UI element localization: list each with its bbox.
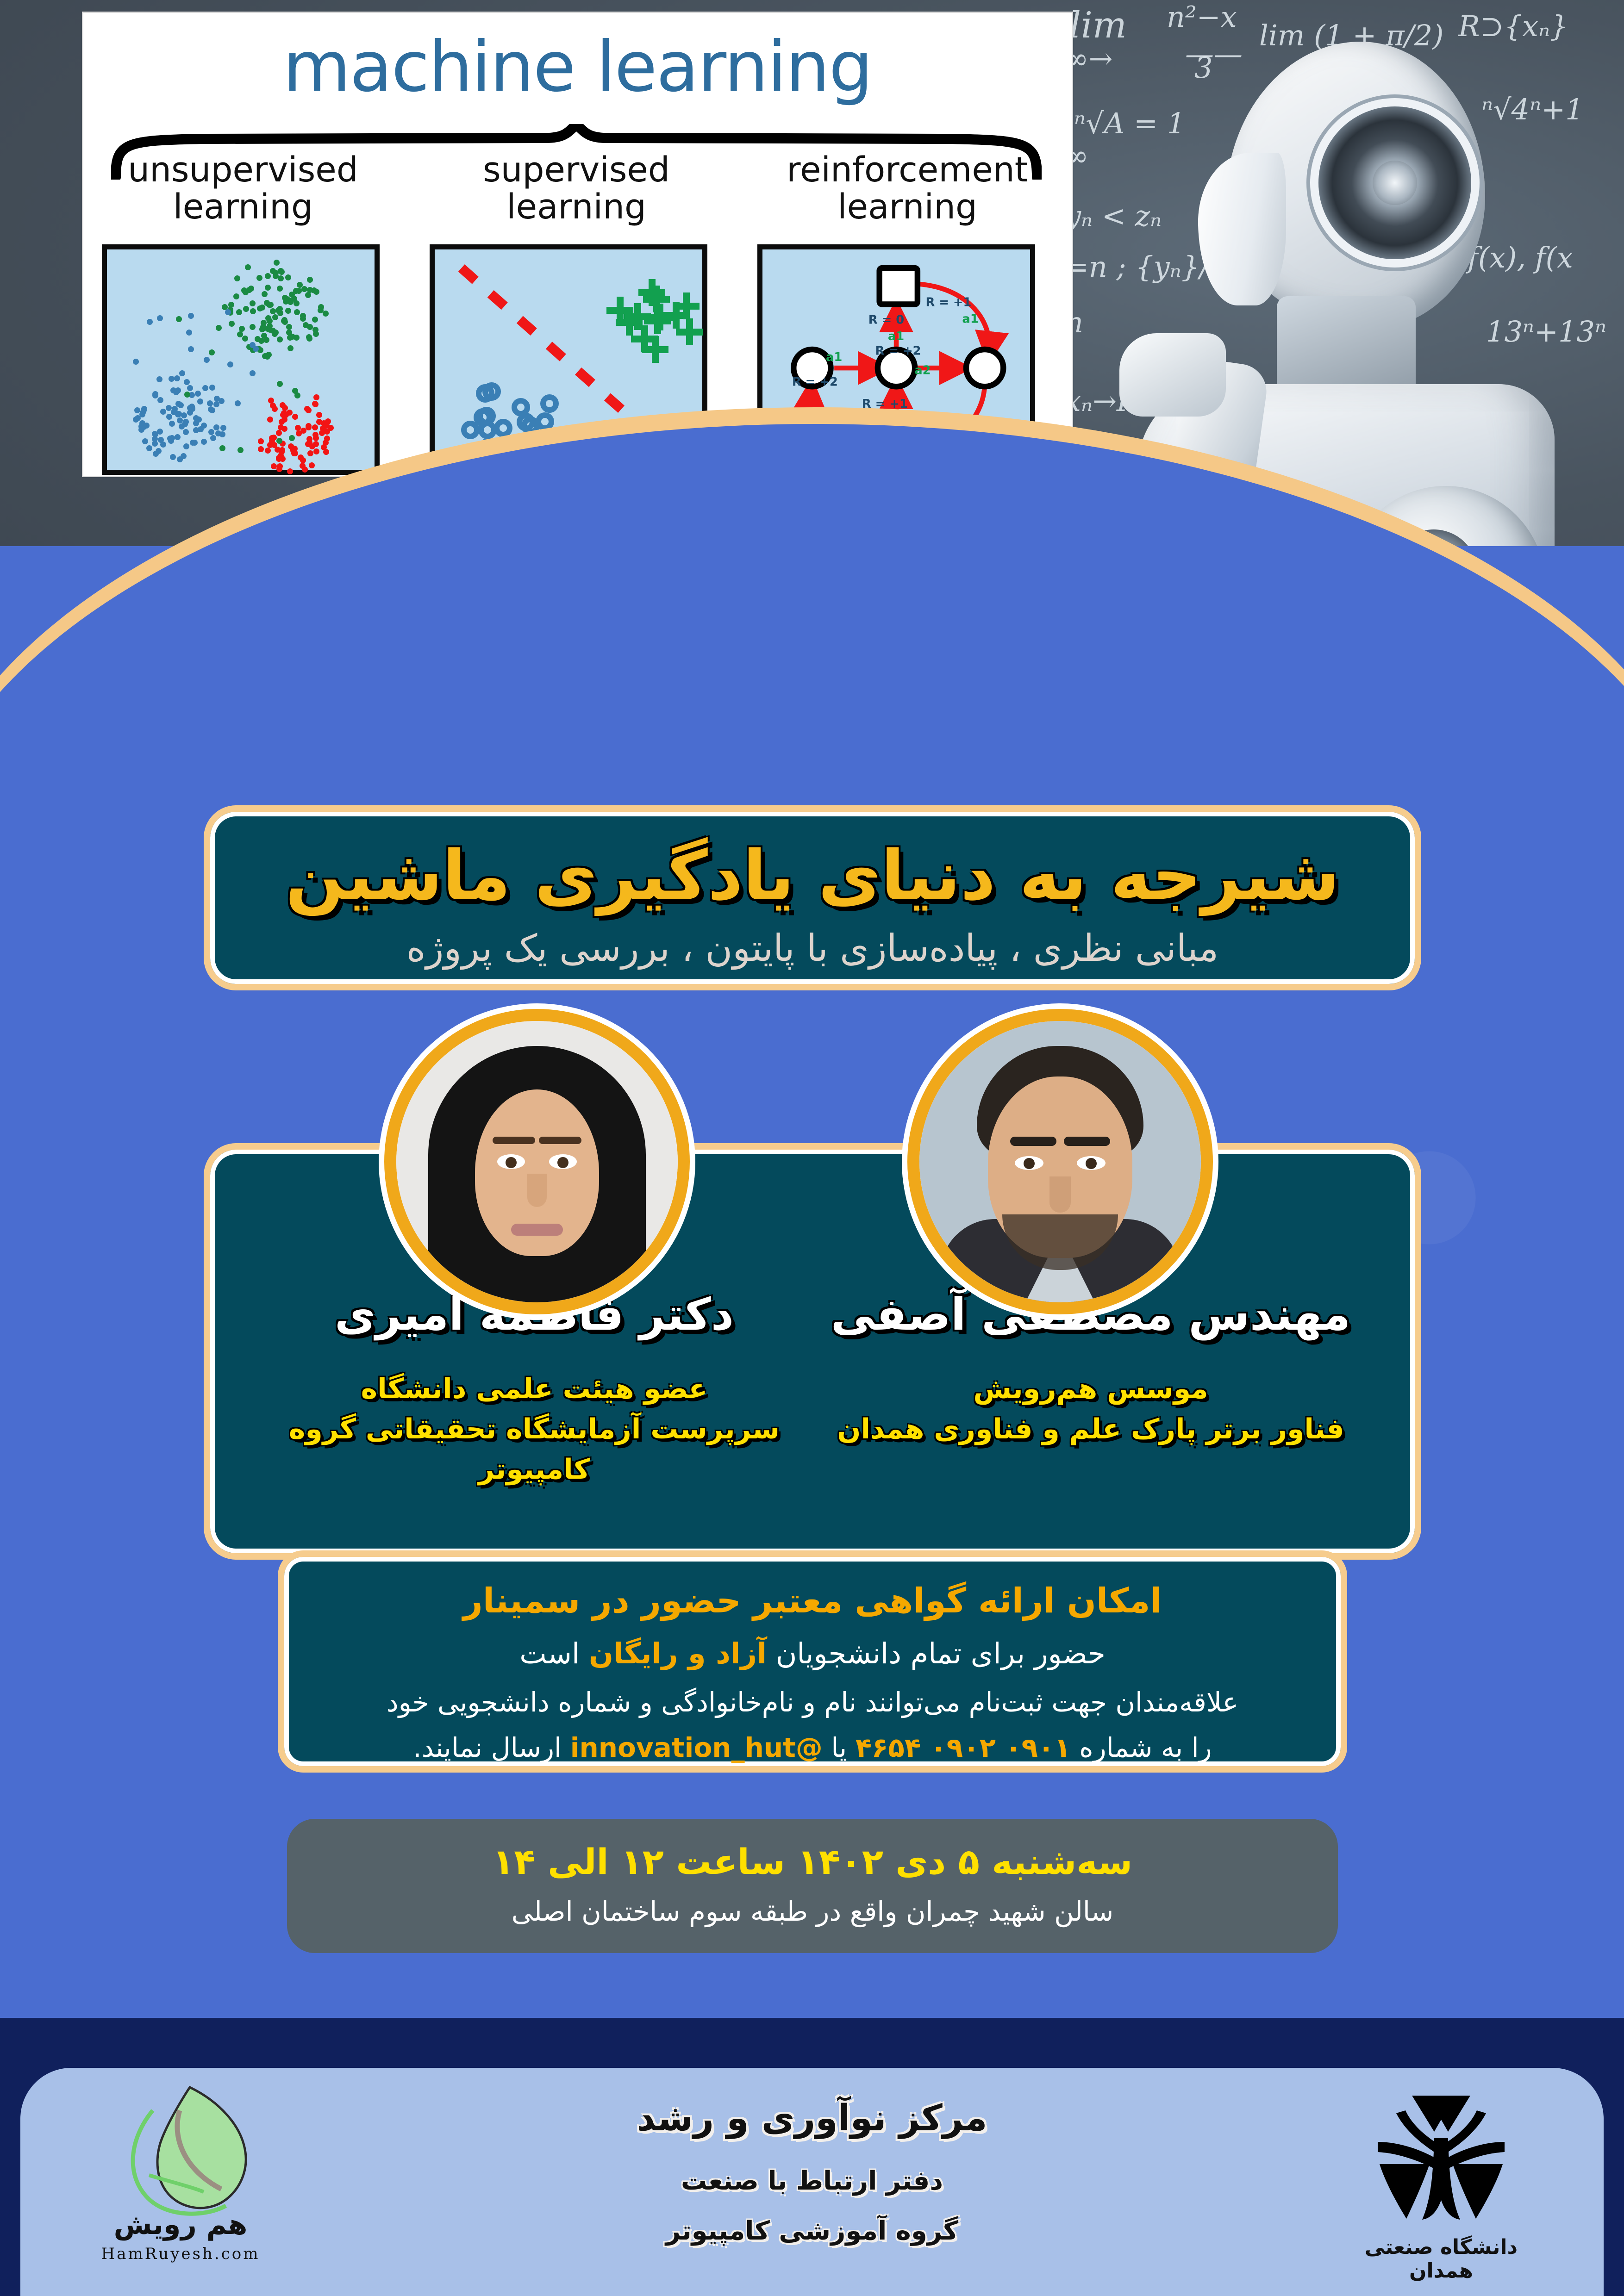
university-mark-icon xyxy=(1369,2087,1513,2226)
data-point xyxy=(323,440,329,446)
data-point xyxy=(152,441,158,447)
speaker-1-affiliation: موسس هم‌رویش فناور برتر پارک علم و فناور… xyxy=(813,1369,1368,1450)
data-point xyxy=(250,308,256,314)
speaker-2-aff-line1: عضو هیئت علمی دانشگاه xyxy=(256,1369,812,1409)
data-point xyxy=(239,326,245,332)
free-highlight: آزاد و رایگان xyxy=(589,1636,767,1670)
data-point xyxy=(237,447,244,453)
data-point xyxy=(186,330,192,336)
data-point xyxy=(208,429,214,435)
leaf-icon xyxy=(97,2083,264,2221)
data-point xyxy=(156,376,162,382)
data-point xyxy=(258,438,264,444)
data-point xyxy=(278,275,284,281)
data-point xyxy=(266,352,272,358)
data-point xyxy=(216,325,222,331)
data-point xyxy=(210,435,216,441)
data-point xyxy=(170,454,176,460)
data-point xyxy=(277,381,283,387)
contact-prefix: را به شماره xyxy=(1071,1732,1212,1763)
ml-cat1-line2: learning xyxy=(102,189,384,226)
hamruyesh-logo: هم رویش HamRuyesh.com xyxy=(83,2083,278,2277)
data-point xyxy=(256,275,262,281)
data-point xyxy=(324,423,330,429)
data-point xyxy=(152,391,158,397)
data-point xyxy=(215,430,221,436)
robot-hand xyxy=(1119,333,1226,417)
data-point xyxy=(197,398,203,404)
speaker-1-photo xyxy=(919,1021,1201,1302)
data-point xyxy=(147,319,153,325)
data-point xyxy=(294,309,300,315)
data-point xyxy=(229,321,235,327)
svg-text:a1: a1 xyxy=(888,330,904,343)
ml-cat3-line1: reinforcement xyxy=(759,152,1056,189)
data-point xyxy=(309,462,315,468)
data-point xyxy=(250,324,256,330)
data-point xyxy=(273,330,279,336)
hamruyesh-url: HamRuyesh.com xyxy=(83,2245,278,2263)
speaker-2-avatar xyxy=(384,1009,690,1314)
title-panel: شیرجه به دنیای یادگیری ماشین مبانی نظری … xyxy=(204,805,1421,990)
data-point xyxy=(184,392,190,398)
contact-suffix: ارسال نمایند. xyxy=(413,1732,570,1763)
speaker-card-1: مهندس مصطفی آصفی موسس هم‌رویش فناور برتر… xyxy=(813,1288,1368,1450)
data-point-circle xyxy=(540,394,559,413)
data-point xyxy=(243,306,249,312)
data-point xyxy=(313,394,319,400)
data-point xyxy=(209,349,215,355)
data-point xyxy=(192,440,198,446)
data-point xyxy=(316,419,322,425)
data-point xyxy=(250,342,256,348)
free-admission-note: حضور برای تمام دانشجویان آزاد و رایگان ا… xyxy=(303,1636,1322,1670)
data-point xyxy=(220,425,226,431)
data-point xyxy=(305,292,311,298)
data-point xyxy=(279,269,285,275)
contact-middle: یا xyxy=(823,1732,856,1763)
data-point-plus xyxy=(642,336,668,363)
data-point xyxy=(301,286,307,292)
ml-category-unsupervised: unsupervised learning xyxy=(102,152,384,226)
speaker-1-avatar xyxy=(907,1009,1213,1314)
svg-text:a2: a2 xyxy=(914,364,931,378)
svg-text:R = +1: R = +1 xyxy=(925,295,971,309)
data-point xyxy=(160,409,166,415)
data-point xyxy=(265,273,271,279)
data-point xyxy=(272,406,278,412)
contact-line: را به شماره ۰۹۰۱ ۰۹۰۲ ۴۶۵۴ یا @innovatio… xyxy=(303,1732,1322,1763)
data-point xyxy=(245,264,251,270)
data-point xyxy=(278,453,284,459)
data-point xyxy=(285,308,291,314)
data-point xyxy=(134,407,140,413)
data-point-plus xyxy=(624,303,651,330)
data-point xyxy=(213,424,219,430)
data-point xyxy=(250,370,256,376)
data-point xyxy=(227,361,233,367)
ml-cat3-line2: learning xyxy=(759,189,1056,226)
data-point xyxy=(208,406,214,412)
data-point xyxy=(187,385,193,391)
free-suffix: است xyxy=(519,1636,589,1670)
data-point xyxy=(312,424,318,430)
speaker-2-photo xyxy=(396,1021,678,1302)
hamruyesh-name: هم رویش xyxy=(83,2209,278,2241)
speaker-2-aff-line2: سرپرست آزمایشگاه تحقیقاتی گروه کامپیوتر xyxy=(256,1409,812,1490)
data-point xyxy=(182,421,188,427)
data-point xyxy=(255,336,261,342)
data-point xyxy=(174,375,180,381)
data-point xyxy=(195,391,201,397)
data-point xyxy=(219,445,225,451)
data-point xyxy=(324,429,330,435)
data-point xyxy=(300,316,306,322)
svg-text:a1: a1 xyxy=(826,350,842,364)
data-point xyxy=(261,333,267,339)
contact-phone[interactable]: ۰۹۰۱ ۰۹۰۲ ۴۶۵۴ xyxy=(856,1732,1071,1763)
data-point xyxy=(259,305,265,311)
certificate-note: امکان ارائه گواهی معتبر حضور در سمینار xyxy=(303,1581,1322,1621)
data-point xyxy=(316,412,322,418)
data-point xyxy=(277,286,283,292)
data-point xyxy=(313,435,319,441)
university-logo: دانشگاه صنعتی همدان xyxy=(1342,2083,1541,2277)
data-point xyxy=(307,450,313,456)
data-point xyxy=(181,412,187,418)
data-point xyxy=(168,438,174,444)
university-name: دانشگاه صنعتی همدان xyxy=(1342,2235,1541,2283)
data-point xyxy=(152,431,158,437)
data-point xyxy=(188,346,194,352)
instagram-handle[interactable]: @innovation_hut xyxy=(570,1732,823,1763)
data-point-plus xyxy=(638,279,665,306)
ml-diagram-card: machine learning unsupervised learning s… xyxy=(83,13,1072,476)
data-point xyxy=(271,463,277,469)
ml-category-supervised: supervised learning xyxy=(435,152,718,226)
data-point xyxy=(296,288,302,294)
page-title: شیرجه به دنیای یادگیری ماشین xyxy=(210,836,1415,915)
data-point xyxy=(265,285,271,291)
data-point xyxy=(179,370,185,376)
data-point xyxy=(267,417,273,423)
data-point xyxy=(267,318,273,324)
data-point xyxy=(178,402,184,408)
data-point xyxy=(267,323,273,329)
data-point xyxy=(270,268,276,274)
svg-text:a1: a1 xyxy=(962,312,978,326)
data-point xyxy=(294,392,300,398)
data-point xyxy=(233,293,239,299)
data-point xyxy=(285,274,291,280)
data-point xyxy=(214,396,220,402)
data-point xyxy=(286,324,292,330)
data-point xyxy=(207,400,213,406)
data-point xyxy=(133,359,139,365)
data-point xyxy=(307,324,313,330)
data-point xyxy=(173,389,179,395)
data-point xyxy=(313,448,319,454)
data-point xyxy=(276,430,282,436)
data-point xyxy=(169,421,175,427)
poster-root: lim n²−x —— 3 →∞ ⁿ√A = 1 ∞ yₙ < zₙ 1/n ;… xyxy=(0,0,1624,2296)
data-point xyxy=(286,330,292,336)
data-point xyxy=(183,443,189,449)
data-point xyxy=(141,424,147,430)
data-point xyxy=(188,313,194,319)
data-point-circle xyxy=(476,384,494,403)
data-point xyxy=(209,385,215,391)
ml-category-reinforcement: reinforcement learning xyxy=(759,152,1056,226)
data-point xyxy=(248,286,254,292)
svg-text:R = +2: R = +2 xyxy=(792,375,838,389)
data-point xyxy=(235,400,241,406)
data-point xyxy=(169,376,175,382)
data-point xyxy=(241,287,247,293)
page-subtitle: مبانی نظری ، پیاده‌سازی با پایتون ، بررس… xyxy=(210,927,1415,970)
data-point xyxy=(135,415,141,421)
robot-ear-module xyxy=(1318,106,1471,259)
data-point xyxy=(236,309,242,315)
info-panel: امکان ارائه گواهی معتبر حضور در سمینار ح… xyxy=(278,1550,1347,1773)
ml-cat2-line1: supervised xyxy=(435,152,718,189)
data-point xyxy=(213,401,219,407)
data-point xyxy=(281,417,287,423)
data-point xyxy=(234,275,240,281)
data-point xyxy=(183,429,189,435)
plot-clustering xyxy=(102,244,380,475)
data-point xyxy=(202,385,208,391)
data-point-circle xyxy=(461,421,480,439)
svg-text:R = 0: R = 0 xyxy=(868,313,904,327)
data-point xyxy=(242,336,248,342)
data-point xyxy=(277,306,283,312)
data-point xyxy=(157,315,163,321)
speaker-2-affiliation: عضو هیئت علمی دانشگاه سرپرست آزمایشگاه ت… xyxy=(256,1369,812,1490)
data-point xyxy=(277,336,283,342)
data-point xyxy=(166,414,172,420)
data-point xyxy=(250,300,256,306)
data-point xyxy=(270,308,276,314)
data-point xyxy=(292,414,298,420)
data-point xyxy=(312,317,318,323)
data-point xyxy=(201,439,207,445)
data-point xyxy=(287,345,294,351)
data-point xyxy=(181,453,187,459)
data-point xyxy=(258,446,264,452)
data-point xyxy=(306,407,312,413)
data-point xyxy=(198,426,204,432)
data-point xyxy=(286,298,292,304)
data-point xyxy=(307,277,313,283)
data-point xyxy=(157,397,163,403)
ml-cat1-line1: unsupervised xyxy=(102,152,384,189)
schedule-panel: سه‌شنبه ۵ دی ۱۴۰۲ ساعت ۱۲ الی ۱۴ سالن شه… xyxy=(287,1819,1338,1953)
data-point xyxy=(265,448,271,454)
data-point xyxy=(175,434,181,440)
free-prefix: حضور برای تمام دانشجویان xyxy=(767,1636,1106,1670)
data-point xyxy=(274,260,280,266)
event-venue: سالن شهید چمران واقع در طبقه سوم ساختمان… xyxy=(287,1896,1338,1927)
speaker-1-aff-line1: موسس هم‌رویش xyxy=(813,1369,1368,1409)
robot-face xyxy=(1198,153,1286,305)
data-point xyxy=(323,449,329,455)
ml-cat2-line2: learning xyxy=(435,189,718,226)
data-point xyxy=(312,401,318,407)
data-point xyxy=(204,357,210,363)
data-point xyxy=(225,309,231,315)
data-point xyxy=(156,448,162,454)
data-point xyxy=(294,300,300,306)
speakers-panel: مهندس مصطفی آصفی موسس هم‌رویش فناور برتر… xyxy=(204,1143,1421,1560)
data-point xyxy=(142,438,148,444)
ml-diagram-title: machine learning xyxy=(83,27,1072,107)
registration-instruction: علاقه‌مندان جهت ثبت‌نام می‌توانند نام و … xyxy=(303,1686,1322,1718)
svg-text:R = +2: R = +2 xyxy=(875,344,921,358)
data-point xyxy=(262,291,268,297)
event-datetime: سه‌شنبه ۵ دی ۱۴۰۲ ساعت ۱۲ الی ۱۴ xyxy=(287,1841,1338,1882)
data-point xyxy=(184,379,190,385)
data-point xyxy=(287,468,293,474)
data-point xyxy=(300,457,306,463)
data-point xyxy=(323,311,329,317)
speaker-1-aff-line2: فناور برتر پارک علم و فناوری همدان xyxy=(813,1409,1368,1450)
data-point xyxy=(272,314,278,320)
data-point xyxy=(237,331,243,337)
speaker-card-2: دکتر فاطمه امیری عضو هیئت علمی دانشگاه س… xyxy=(256,1288,812,1490)
data-point xyxy=(296,430,302,436)
data-point xyxy=(176,316,182,322)
data-point xyxy=(146,445,152,451)
data-point xyxy=(289,435,295,441)
